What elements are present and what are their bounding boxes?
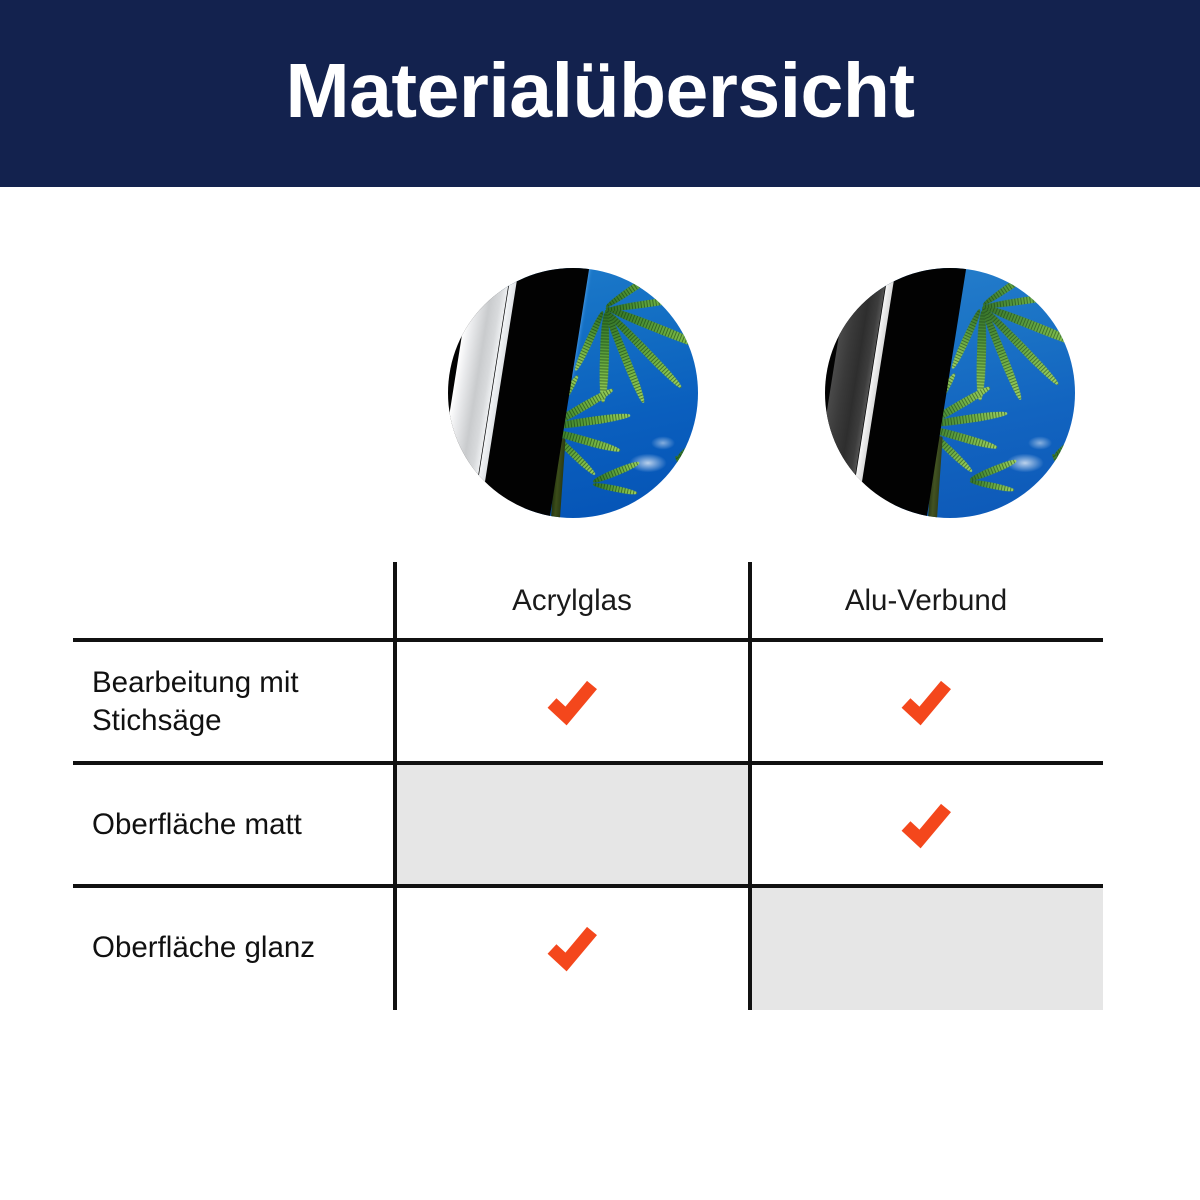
sample-images-row: [0, 268, 1200, 520]
page-title: Materialübersicht: [0, 0, 1200, 187]
table-corner-cell: [73, 562, 395, 640]
material-overview-infographic: Materialübersicht: [0, 0, 1200, 1200]
row-label-line-2: Stichsäge: [92, 704, 222, 737]
cell-alu-verbund-matt: [749, 763, 1103, 886]
sample-image-acrylglas: [448, 268, 698, 518]
table-rule-horizontal: [73, 638, 1103, 642]
row-label-bearbeitung-stichsaege: Bearbeitung mit Stichsäge: [73, 640, 395, 763]
check-icon: [899, 678, 953, 726]
table-rule-vertical: [748, 562, 752, 1010]
cell-alu-verbund-bearbeitung: [749, 640, 1103, 763]
check-icon: [899, 801, 953, 849]
cell-acrylglas-matt-unavailable: [395, 763, 749, 886]
row-label-line-1: Bearbeitung mit: [92, 666, 299, 699]
column-header-alu-verbund: Alu-Verbund: [749, 562, 1103, 640]
table-row: Oberfläche glanz: [73, 886, 1103, 1010]
header-banner: Materialübersicht: [0, 0, 1200, 187]
table-header-row: Acrylglas Alu-Verbund: [73, 562, 1103, 640]
cell-alu-verbund-glanz-unavailable: [749, 886, 1103, 1010]
table-row: Oberfläche matt: [73, 763, 1103, 886]
table-rule-horizontal: [73, 884, 1103, 888]
row-label-oberflaeche-glanz: Oberfläche glanz: [73, 886, 395, 1010]
material-comparison-table: Acrylglas Alu-Verbund Bearbeitung mit St…: [73, 562, 1103, 1010]
table-rule-vertical: [393, 562, 397, 1010]
check-icon: [545, 678, 599, 726]
table-rule-horizontal: [73, 761, 1103, 765]
column-header-acrylglas: Acrylglas: [395, 562, 749, 640]
check-icon: [545, 924, 599, 972]
cell-acrylglas-bearbeitung: [395, 640, 749, 763]
row-label-oberflaeche-matt: Oberfläche matt: [73, 763, 395, 886]
table-row: Bearbeitung mit Stichsäge: [73, 640, 1103, 763]
cell-acrylglas-glanz: [395, 886, 749, 1010]
sample-image-alu-verbund: [825, 268, 1075, 518]
